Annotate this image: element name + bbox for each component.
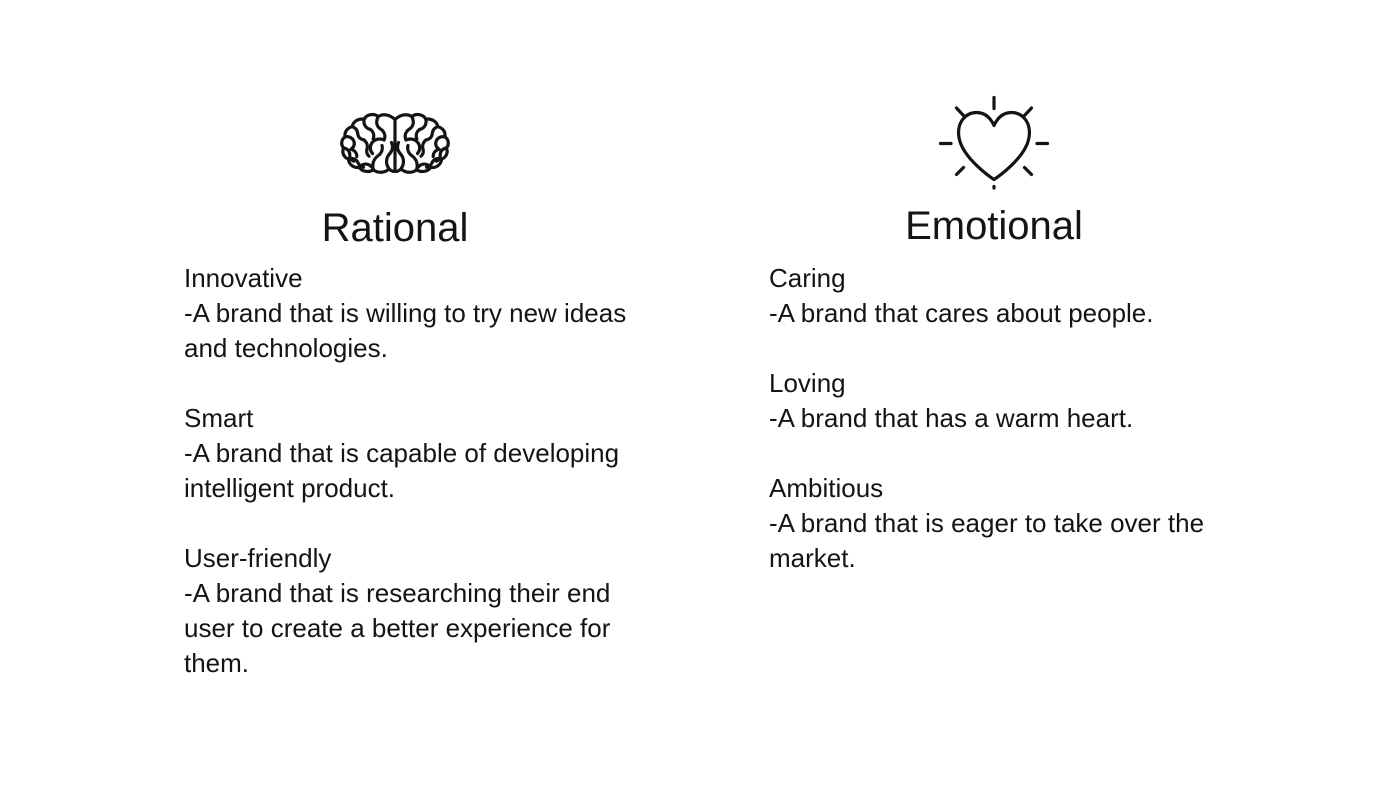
radiant-heart-icon xyxy=(769,95,1219,190)
attribute-block: Innovative -A brand that is willing to t… xyxy=(184,261,654,366)
attribute-description: -A brand that is eager to take over the … xyxy=(769,506,1249,576)
attribute-block: Smart -A brand that is capable of develo… xyxy=(184,401,654,506)
attribute-name: User-friendly xyxy=(184,541,654,576)
attribute-description: -A brand that has a warm heart. xyxy=(769,401,1249,436)
attribute-description: -A brand that is capable of developing i… xyxy=(184,436,654,506)
attribute-name: Innovative xyxy=(184,261,654,296)
attribute-description: -A brand that cares about people. xyxy=(769,296,1249,331)
attribute-name: Smart xyxy=(184,401,654,436)
attribute-block: Caring -A brand that cares about people. xyxy=(769,261,1249,331)
attribute-description: -A brand that is researching their end u… xyxy=(184,576,654,681)
emotional-heading: Emotional xyxy=(769,203,1219,249)
emotional-attribute-list: Caring -A brand that cares about people.… xyxy=(769,261,1249,576)
attribute-block: Ambitious -A brand that is eager to take… xyxy=(769,471,1249,576)
attribute-block: Loving -A brand that has a warm heart. xyxy=(769,366,1249,436)
brain-icon xyxy=(184,95,606,190)
rational-heading: Rational xyxy=(184,205,606,251)
attribute-name: Loving xyxy=(769,366,1249,401)
brand-personality-slide: Rational Innovative -A brand that is wil… xyxy=(0,0,1400,788)
attribute-block: User-friendly -A brand that is researchi… xyxy=(184,541,654,681)
attribute-name: Ambitious xyxy=(769,471,1249,506)
rational-attribute-list: Innovative -A brand that is willing to t… xyxy=(184,261,654,681)
attribute-name: Caring xyxy=(769,261,1249,296)
attribute-description: -A brand that is willing to try new idea… xyxy=(184,296,654,366)
